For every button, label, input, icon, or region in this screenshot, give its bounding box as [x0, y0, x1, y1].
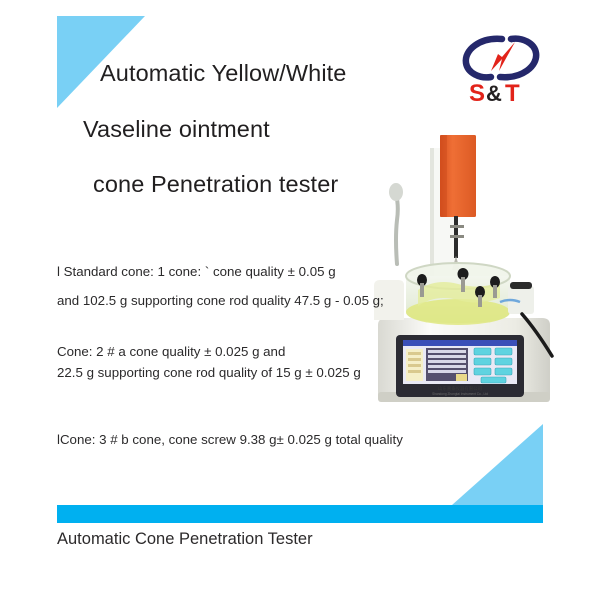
spec-line: lCone: 3 # b cone, cone screw 9.38 g± 0.…: [57, 429, 477, 450]
headline-block: Automatic Yellow/White Vaseline ointment…: [57, 62, 457, 197]
logo-letter-t: T: [505, 80, 520, 106]
logo-ampersand: &: [486, 81, 502, 106]
decorative-divider-bar: [57, 505, 543, 523]
product-caption: Automatic Cone Penetration Tester: [57, 530, 313, 549]
company-logo: S & T: [458, 30, 544, 106]
specs-block: l Standard cone: 1 cone: ` cone quality …: [57, 258, 477, 450]
spec-line: Cone: 2 # a cone quality ± 0.025 g and: [57, 341, 477, 362]
headline-line-2: Vaseline ointment: [83, 118, 457, 142]
logo-letter-s: S: [469, 80, 485, 106]
spec-standard-cone: l Standard cone: 1 cone: ` cone quality …: [57, 258, 477, 315]
headline-line-1: Automatic Yellow/White: [100, 62, 457, 86]
spec-cone-2: Cone: 2 # a cone quality ± 0.025 g and 2…: [57, 341, 477, 383]
spec-line: 22.5 g supporting cone rod quality of 15…: [57, 362, 477, 383]
headline-line-3: cone Penetration tester: [93, 173, 457, 197]
logo-arrow-icon: [491, 42, 515, 71]
spec-cone-3: lCone: 3 # b cone, cone screw 9.38 g± 0.…: [57, 429, 477, 450]
spec-line: and 102.5 g supporting cone rod quality …: [57, 287, 477, 316]
poster-canvas: S & T: [0, 0, 600, 600]
spec-line: l Standard cone: 1 cone: ` cone quality …: [57, 258, 477, 287]
